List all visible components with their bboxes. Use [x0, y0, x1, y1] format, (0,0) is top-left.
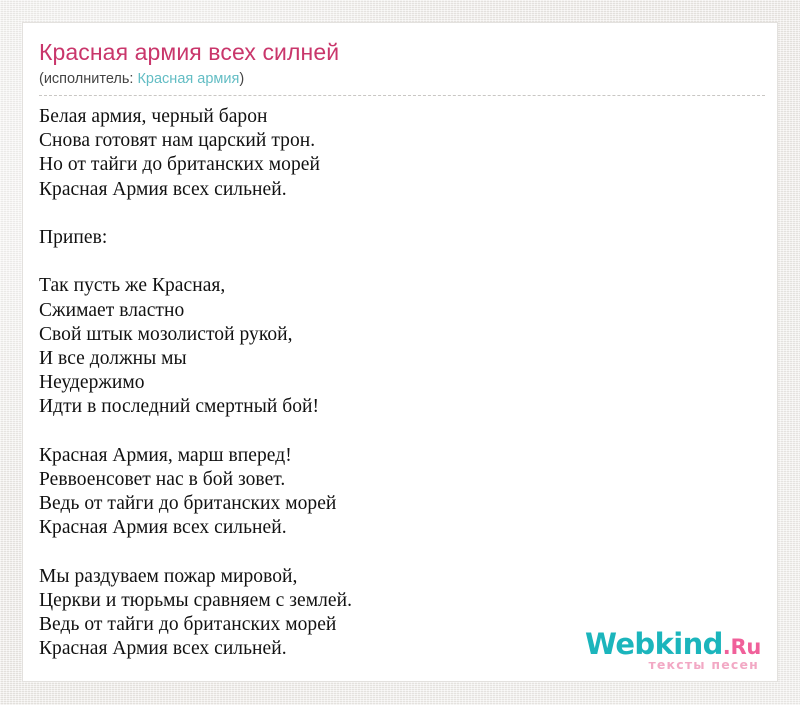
performer-link[interactable]: Красная армия [137, 71, 239, 87]
lyrics-text: Белая армия, черный барон Снова готовят … [39, 96, 761, 662]
performer-suffix-label: ) [239, 71, 244, 87]
performer-prefix-label: (исполнитель: [39, 71, 137, 87]
performer-line: (исполнитель: Красная армия) [39, 69, 765, 96]
page-title: Красная армия всех силней [39, 37, 761, 67]
lyrics-card: Красная армия всех силней (исполнитель: … [22, 22, 778, 682]
webkind-logo-tld: .Ru [723, 635, 761, 659]
webkind-logo[interactable]: Webkind.Ru тексты песен [561, 629, 761, 672]
webkind-logo-word: Webkind [585, 627, 723, 661]
lyrics-card-inner: Красная армия всех силней (исполнитель: … [39, 37, 761, 681]
